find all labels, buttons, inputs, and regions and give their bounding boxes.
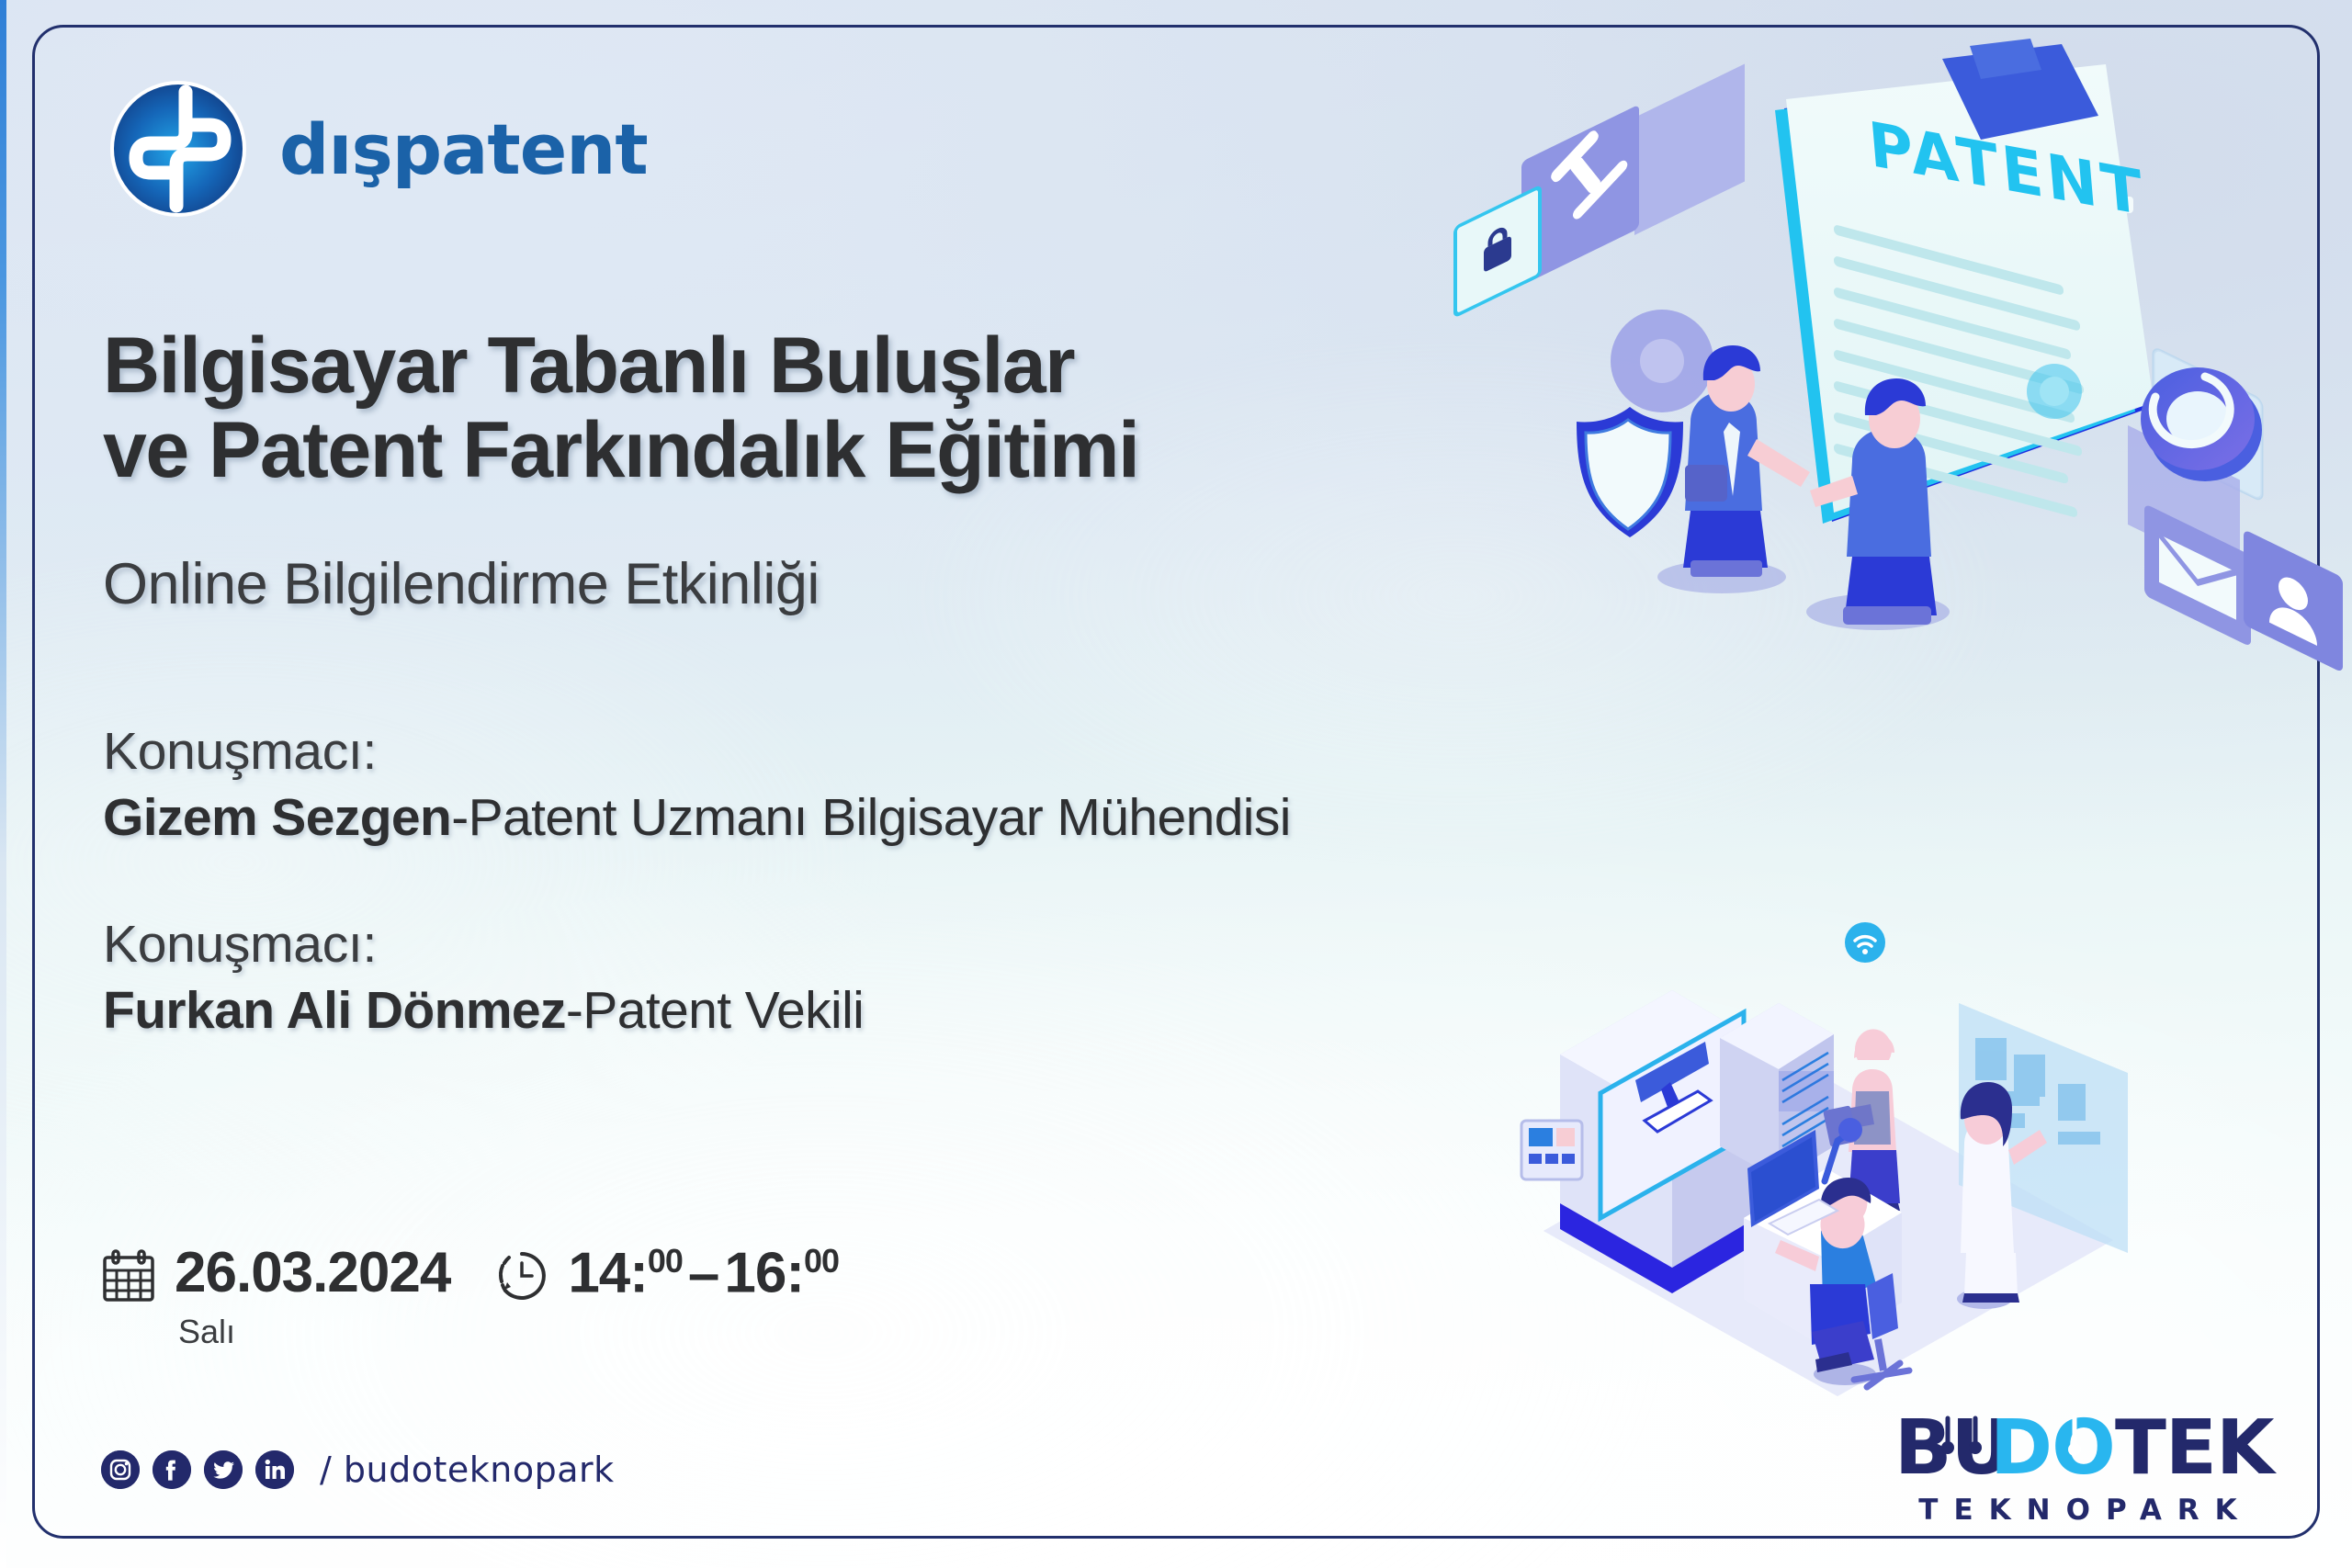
budotek-part3: TEK [2115,1404,2278,1492]
time-end-min: 00 [804,1242,839,1280]
page-subtitle: Online Bilgilendirme Etkinliği [103,551,820,617]
speaker-entry-2: Konuşmacı: Furkan Ali Dönmez-Patent Veki… [103,914,1665,1041]
date-group: 26.03.2024 Salı [101,1245,450,1351]
time-dash: – [683,1242,724,1305]
event-weekday: Salı [178,1313,450,1351]
time-start-hour: 14: [568,1242,648,1305]
speaker-role-2: -Patent Vekili [566,981,864,1040]
patent-document: PATENT [1775,39,2154,524]
event-date: 26.03.2024 [175,1245,450,1302]
speaker-line-2: Furkan Ali Dönmez-Patent Vekili [103,980,1665,1041]
title-line-1: Bilgisayar Tabanlı Buluşlar [103,321,1074,410]
left-edge-strip [0,0,6,1568]
speakers-section: Konuşmacı: Gizem Sezgen-Patent Uzmanı Bi… [103,721,1665,1107]
linkedin-icon[interactable] [255,1450,294,1489]
page-title: Bilgisayar Tabanlı Buluşlar ve Patent Fa… [103,323,1536,492]
budotek-part2: DO [1990,1404,2115,1492]
time-start-min: 00 [648,1242,683,1280]
title-line-2: ve Patent Farkındalık Eğitimi [103,408,1536,492]
budotek-wordmark: BU DO TEK [1894,1404,2262,1488]
event-time: 14:00–16:00 [568,1245,839,1303]
speaker-entry-1: Konuşmacı: Gizem Sezgen-Patent Uzmanı Bi… [103,721,1665,848]
speaker-label-2: Konuşmacı: [103,914,1665,975]
brand-row: dışpatent [108,79,648,219]
time-group: 14:00–16:00 [494,1245,839,1303]
speaker-label-1: Konuşmacı: [103,721,1665,782]
calendar-icon [101,1248,156,1303]
speaker-line-1: Gizem Sezgen-Patent Uzmanı Bilgisayar Mü… [103,787,1665,848]
event-datetime: 26.03.2024 Salı 14:00–16:00 [101,1245,839,1351]
speaker-name-2: Furkan Ali Dönmez [103,981,566,1040]
clock-icon [494,1248,549,1303]
speaker-role-1: -Patent Uzmanı Bilgisayar Mühendisi [451,788,1291,847]
speaker-name-1: Gizem Sezgen [103,788,451,847]
dispatent-logo-icon [108,79,248,219]
patent-document-illustration: PATENT [1510,44,2301,632]
wifi-icon [1845,922,1885,963]
social-footer: / budoteknopark [101,1450,615,1490]
time-end-hour: 16: [724,1242,804,1305]
event-poster: PATENT [0,0,2352,1568]
facebook-icon[interactable] [153,1450,191,1489]
budotek-logo: BU DO TEK TEKNOPARK [1894,1404,2262,1527]
shield-icon [1577,407,1683,537]
social-handle[interactable]: / budoteknopark [320,1450,615,1490]
budotek-subtitle: TEKNOPARK [1909,1494,2262,1527]
instagram-icon[interactable] [101,1450,140,1489]
twitter-icon[interactable] [204,1450,243,1489]
brand-name: dışpatent [279,108,648,190]
